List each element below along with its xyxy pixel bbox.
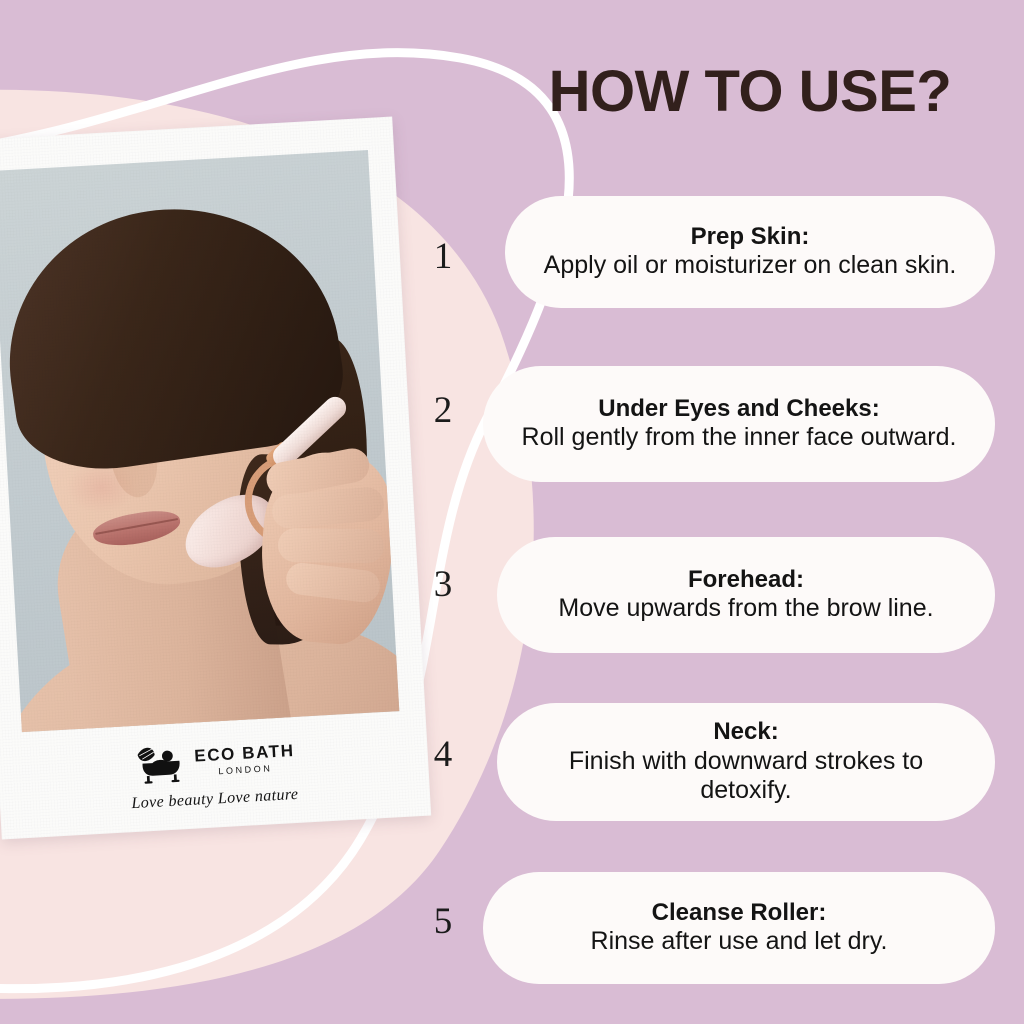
poster-canvas: HOW TO USE?	[0, 0, 1024, 1024]
step-title-1: Prep Skin:	[691, 223, 810, 251]
step-card-5[interactable]: Cleanse Roller: Rinse after use and let …	[483, 872, 995, 984]
step-number-3: 3	[421, 566, 465, 603]
step-title-5: Cleanse Roller:	[652, 899, 827, 927]
step-body-1: Apply oil or moisturizer on clean skin.	[544, 251, 957, 281]
step-number-1: 1	[421, 238, 465, 275]
step-card-2[interactable]: Under Eyes and Cheeks: Roll gently from …	[483, 366, 995, 482]
step-number-2: 2	[421, 392, 465, 429]
step-body-4: Finish with downward strokes to detoxify…	[527, 747, 965, 806]
step-title-3: Forehead:	[688, 566, 804, 594]
step-title-2: Under Eyes and Cheeks:	[598, 395, 879, 423]
step-number-5: 5	[421, 903, 465, 940]
step-card-1[interactable]: Prep Skin: Apply oil or moisturizer on c…	[505, 196, 995, 308]
step-card-3[interactable]: Forehead: Move upwards from the brow lin…	[497, 537, 995, 653]
step-body-3: Move upwards from the brow line.	[558, 594, 933, 624]
steps-list: 1 Prep Skin: Apply oil or moisturizer on…	[0, 0, 1024, 1024]
step-card-4[interactable]: Neck: Finish with downward strokes to de…	[497, 703, 995, 821]
step-title-4: Neck:	[713, 718, 778, 746]
step-number-4: 4	[421, 736, 465, 773]
step-body-5: Rinse after use and let dry.	[591, 927, 888, 957]
step-body-2: Roll gently from the inner face outward.	[522, 423, 957, 453]
